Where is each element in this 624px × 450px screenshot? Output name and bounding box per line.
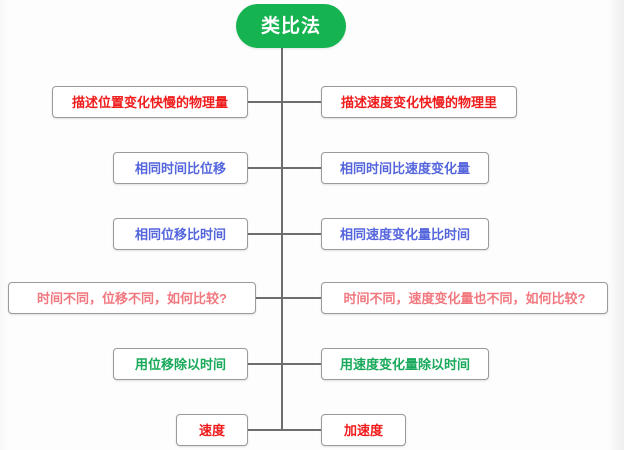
rung-right-1 <box>281 101 321 103</box>
root-node-label: 类比法 <box>261 17 321 36</box>
node-right-5-label: 用速度变化量除以时间 <box>340 358 470 371</box>
rung-left-2 <box>248 167 282 169</box>
rung-right-5 <box>281 363 321 365</box>
rung-left-4 <box>256 297 282 299</box>
trunk-connector <box>281 48 283 431</box>
node-left-3[interactable]: 相同位移比时间 <box>113 218 248 250</box>
node-right-4[interactable]: 时间不同，速度变化量也不同，如何比较? <box>321 282 608 314</box>
node-left-4-label: 时间不同，位移不同，如何比较? <box>37 292 227 305</box>
rung-left-1 <box>248 101 282 103</box>
node-right-2-label: 相同时间比速度变化量 <box>340 162 470 175</box>
node-right-3[interactable]: 相同速度变化量比时间 <box>321 218 489 250</box>
node-left-1-label: 描述位置变化快慢的物理量 <box>72 96 228 109</box>
root-node[interactable]: 类比法 <box>236 4 346 48</box>
node-left-2[interactable]: 相同时间比位移 <box>113 152 248 184</box>
rung-right-6 <box>281 429 321 431</box>
node-left-6-label: 速度 <box>199 424 225 437</box>
left-edge-shading <box>0 0 8 450</box>
mindmap-canvas: 类比法 描述位置变化快慢的物理量 相同时间比位移 相同位移比时间 时间不同，位移… <box>0 0 624 450</box>
node-right-1[interactable]: 描述速度变化快慢的物理里 <box>321 86 517 118</box>
node-right-6-label: 加速度 <box>344 424 383 437</box>
node-right-6[interactable]: 加速度 <box>321 414 406 446</box>
node-right-5[interactable]: 用速度变化量除以时间 <box>321 348 489 380</box>
rung-left-5 <box>248 363 282 365</box>
rung-right-4 <box>281 297 321 299</box>
rung-left-3 <box>248 233 282 235</box>
node-left-4[interactable]: 时间不同，位移不同，如何比较? <box>8 282 256 314</box>
node-right-3-label: 相同速度变化量比时间 <box>340 228 470 241</box>
rung-left-6 <box>248 429 282 431</box>
node-right-4-label: 时间不同，速度变化量也不同，如何比较? <box>344 292 586 305</box>
node-left-1[interactable]: 描述位置变化快慢的物理量 <box>52 86 248 118</box>
node-right-1-label: 描述速度变化快慢的物理里 <box>341 96 497 109</box>
node-left-6[interactable]: 速度 <box>176 414 248 446</box>
node-left-5[interactable]: 用位移除以时间 <box>113 348 248 380</box>
rung-right-3 <box>281 233 321 235</box>
node-left-3-label: 相同位移比时间 <box>135 228 226 241</box>
right-edge-shading <box>608 0 624 450</box>
node-left-2-label: 相同时间比位移 <box>135 162 226 175</box>
rung-right-2 <box>281 167 321 169</box>
node-left-5-label: 用位移除以时间 <box>135 358 226 371</box>
node-right-2[interactable]: 相同时间比速度变化量 <box>321 152 489 184</box>
